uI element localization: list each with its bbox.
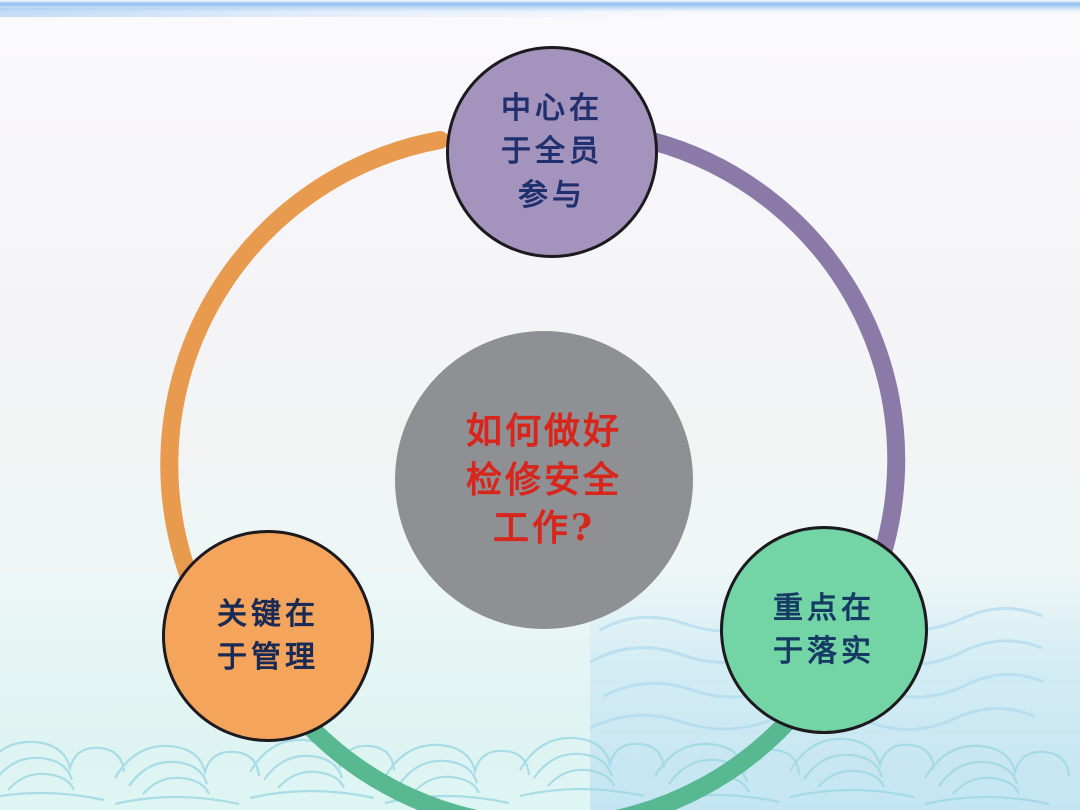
diagram-node-top-label: 中心在 于全员 参与: [501, 87, 603, 218]
diagram-node-top[interactable]: 中心在 于全员 参与: [446, 46, 658, 258]
diagram-node-bottom-left-label: 关键在 于管理: [217, 593, 319, 680]
diagram-node-bottom-left[interactable]: 关键在 于管理: [162, 530, 374, 742]
diagram-center-label: 如何做好 检修安全 工作?: [466, 407, 622, 553]
diagram-center-node[interactable]: 如何做好 检修安全 工作?: [395, 331, 693, 629]
diagram-node-bottom-right-label: 重点在 于落实: [773, 587, 875, 674]
slide-canvas: 如何做好 检修安全 工作? 中心在 于全员 参与 关键在 于管理 重点在 于落实: [0, 0, 1080, 810]
arc-green: [300, 700, 806, 810]
diagram-node-bottom-right[interactable]: 重点在 于落实: [720, 526, 928, 734]
